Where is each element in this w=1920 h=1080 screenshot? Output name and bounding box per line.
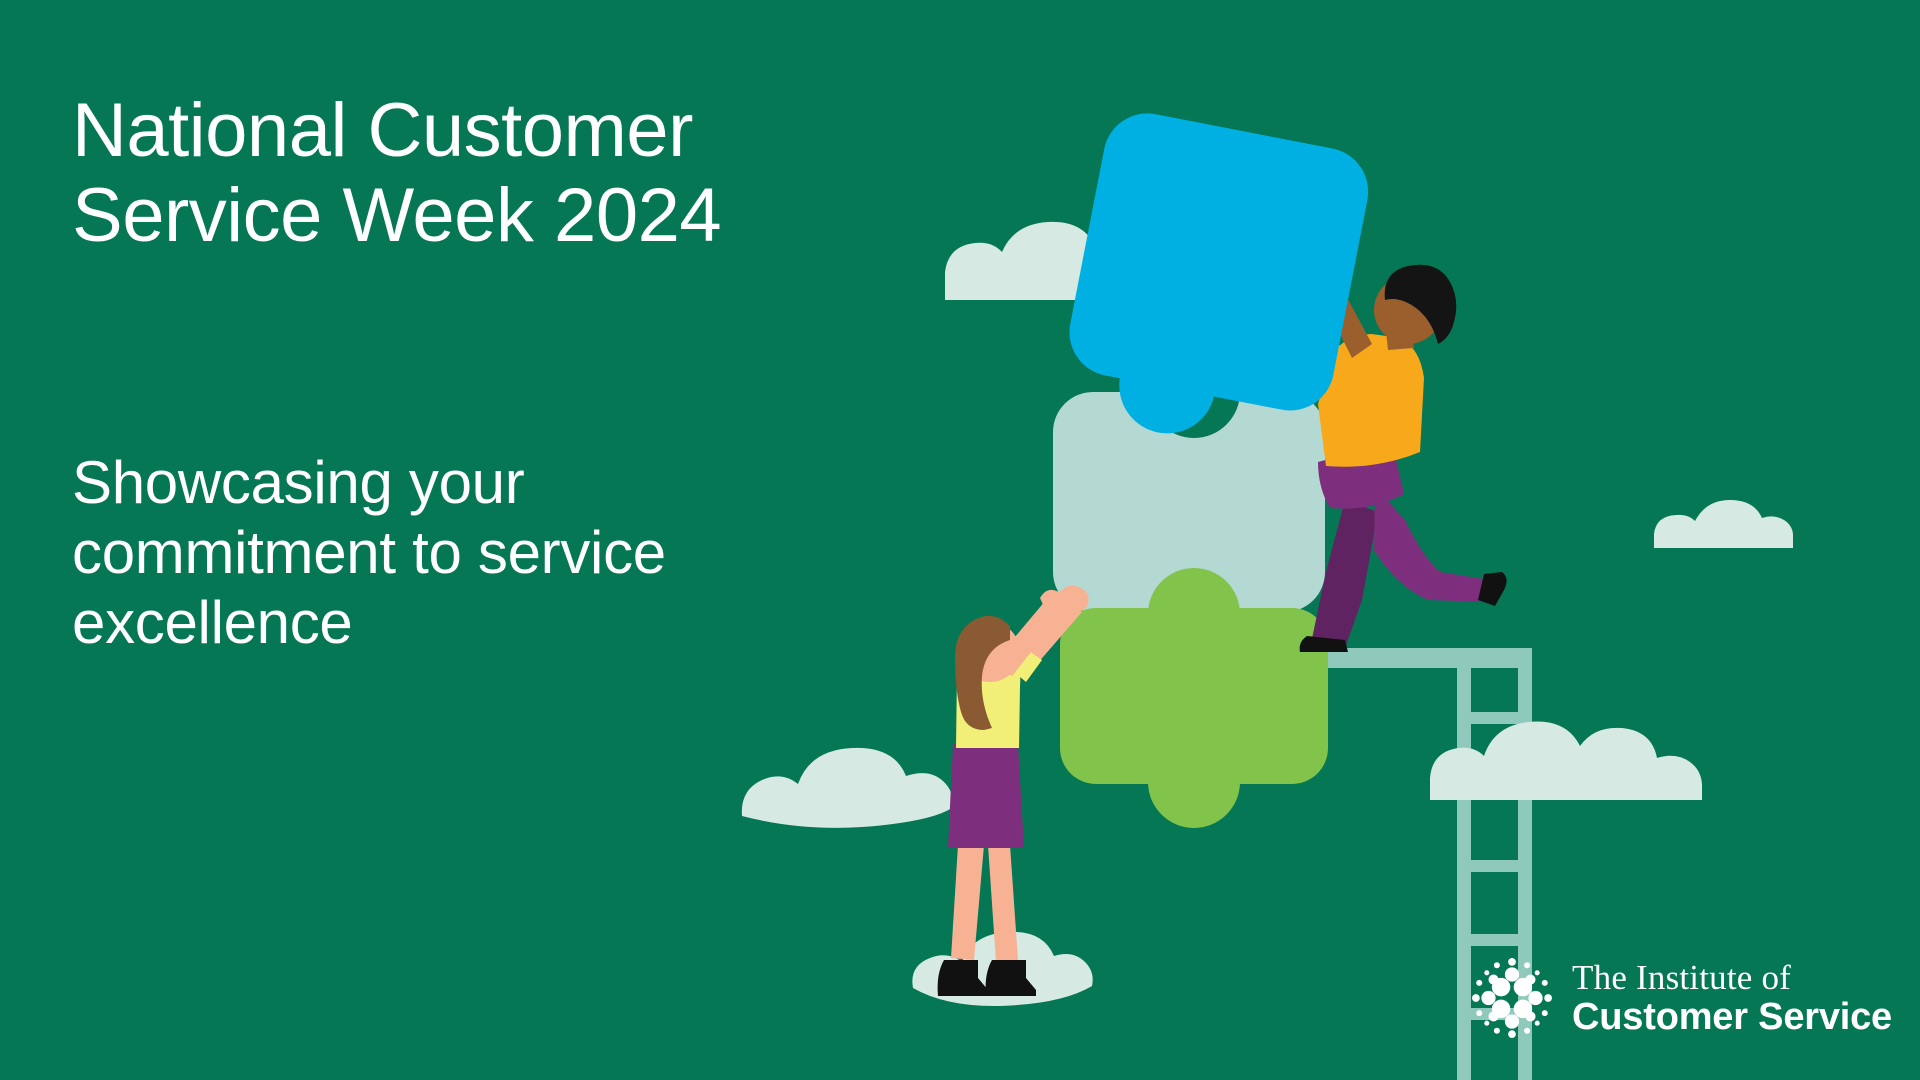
subheadline: Showcasing your commitment to service ex… [72, 448, 832, 659]
logo-line-1: The Institute of [1572, 960, 1892, 995]
logo-line-2: Customer Service [1572, 998, 1892, 1036]
page-title: National Customer Service Week 2024 [72, 88, 912, 258]
logo-text: The Institute of Customer Service [1572, 960, 1892, 1036]
institute-dot-cluster-logo-icon [1470, 956, 1554, 1040]
poster-canvas: National Customer Service Week 2024 Show… [0, 0, 1920, 1080]
institute-logo[interactable]: The Institute of Customer Service [1470, 956, 1892, 1040]
headline-block: National Customer Service Week 2024 [72, 88, 912, 258]
